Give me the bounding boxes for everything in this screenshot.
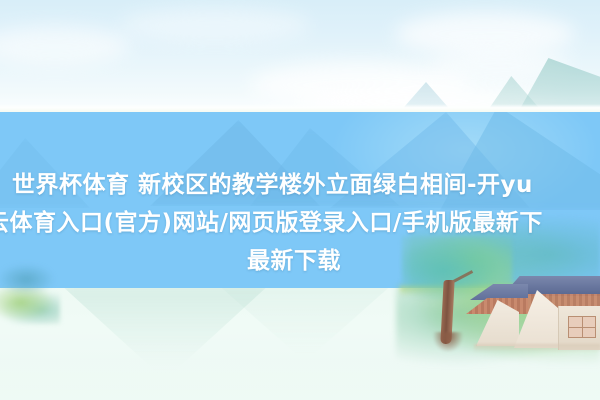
headline-line-3: 最新下载 [247, 242, 341, 280]
headline-line-1: 世界杯体育 新校区的教学楼外立面绿白相间-开yu [12, 166, 533, 204]
house-base-shadow [474, 344, 600, 352]
cloud-icon [0, 26, 130, 66]
sky-band-seam [0, 104, 600, 112]
house-window [568, 316, 596, 338]
headline-text: 世界杯体育 新校区的教学楼外立面绿白相间-开yu 云体育入口(官方)网站/网页版… [0, 112, 600, 288]
headline-line-2: 云体育入口(官方)网站/网页版登录入口/手机版最新下 [0, 204, 543, 242]
promo-banner: 世界杯体育 新校区的教学楼外立面绿白相间-开yu 云体育入口(官方)网站/网页版… [0, 0, 600, 400]
house-illustration [470, 276, 600, 364]
cloud-icon [120, 8, 310, 42]
sky-background [0, 0, 600, 112]
tree-root [433, 332, 463, 352]
